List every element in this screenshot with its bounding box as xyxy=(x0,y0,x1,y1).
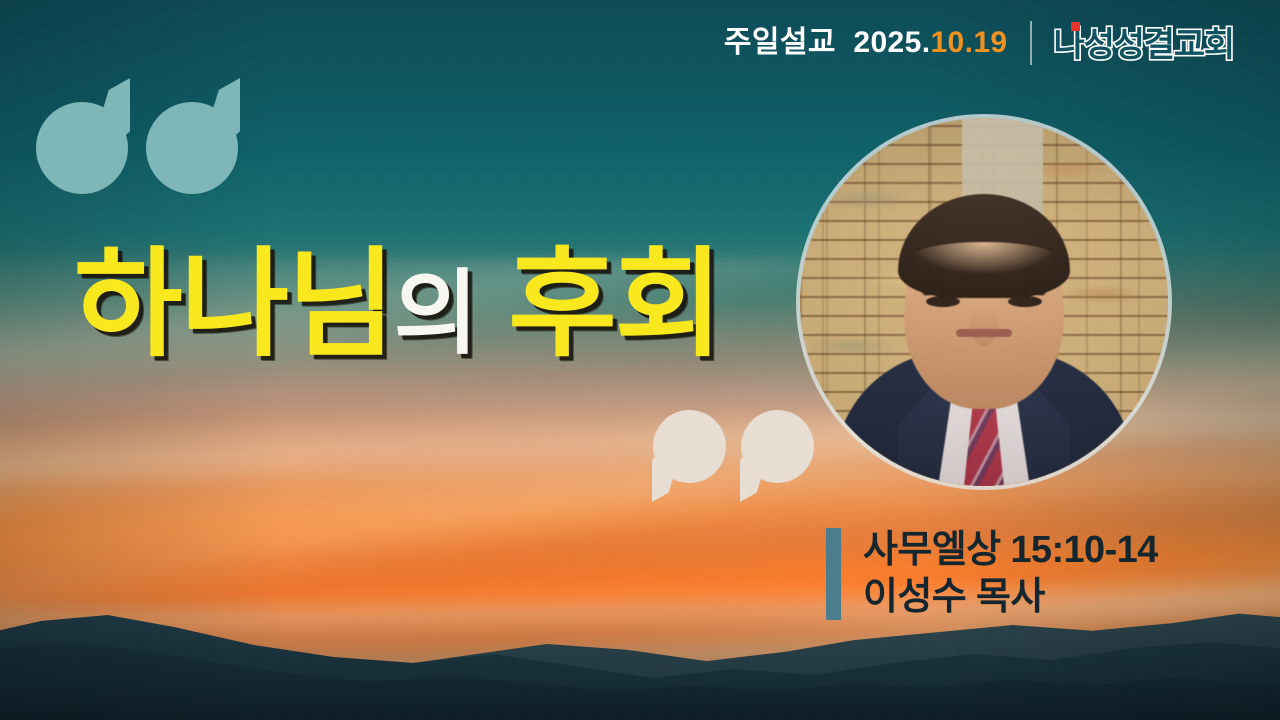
sermon-date-label: 주일설교 2025.10.19 xyxy=(724,28,1008,58)
sermon-title-part3: 후회 xyxy=(477,239,721,371)
speaker-portrait xyxy=(800,118,1168,486)
sermon-title: 하나님의 후회 xyxy=(74,246,721,364)
logo-red-dot-icon xyxy=(1071,22,1080,31)
church-logo[interactable]: 나성성결교회 xyxy=(1054,24,1234,62)
scripture-reference: 사무엘상 15:10-14 xyxy=(863,528,1158,573)
portrait-tone-overlay xyxy=(800,118,1168,486)
info-text-group: 사무엘상 15:10-14 이성수 목사 xyxy=(863,528,1158,620)
sermon-title-part1: 하나님 xyxy=(74,239,394,371)
date-prefix: 2025. xyxy=(853,26,930,59)
portrait-image xyxy=(800,118,1168,486)
header-divider xyxy=(1030,21,1032,65)
sermon-thumbnail: 주일설교 2025.10.19 나성성결교회 하나님의 후회 xyxy=(0,0,1280,720)
speaker-name: 이성수 목사 xyxy=(863,575,1158,620)
sermon-type-label: 주일설교 xyxy=(724,26,836,59)
info-accent-bar xyxy=(826,528,841,620)
header: 주일설교 2025.10.19 나성성결교회 xyxy=(724,0,1234,86)
sermon-info-block: 사무엘상 15:10-14 이성수 목사 xyxy=(826,528,1158,620)
church-logo-text: 나성성결교회 xyxy=(1054,28,1234,62)
sermon-title-part2: 의 xyxy=(394,263,478,365)
date-accent: 10.19 xyxy=(930,26,1007,59)
